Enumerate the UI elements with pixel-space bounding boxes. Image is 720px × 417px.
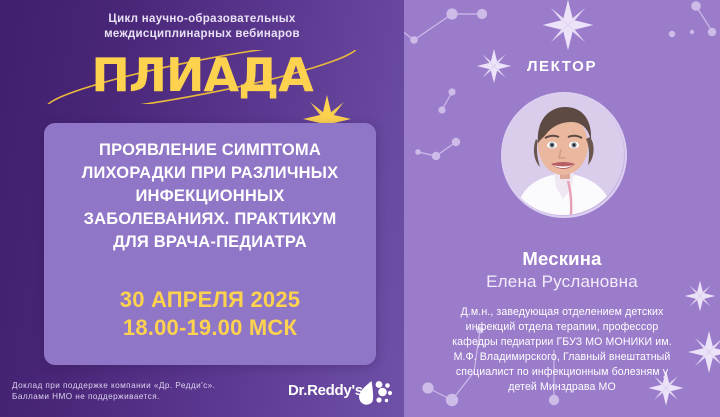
webinar-poster: Цикл научно-образовательных междисциплин… bbox=[0, 0, 720, 417]
sponsor-logo: Dr.Reddy's bbox=[288, 380, 393, 406]
webinar-title: ПРОЯВЛЕНИЕ СИМПТОМА ЛИХОРАДКИ ПРИ РАЗЛИЧ… bbox=[54, 139, 366, 254]
webinar-time: 18.00-19.00 МСК bbox=[54, 314, 366, 342]
header-subtitle: Цикл научно-образовательных междисциплин… bbox=[0, 12, 404, 42]
left-panel: Цикл научно-образовательных междисциплин… bbox=[0, 0, 404, 417]
title-card: ПРОЯВЛЕНИЕ СИМПТОМА ЛИХОРАДКИ ПРИ РАЗЛИЧ… bbox=[44, 123, 376, 365]
credentials-line-2: инфекций отдела терапии, профессор bbox=[422, 320, 702, 335]
disclaimer: Доклад при поддержке компании «Др. Редди… bbox=[12, 380, 272, 402]
credentials-line-4: М.Ф. Владимирского, Главный внештатный bbox=[422, 350, 702, 365]
right-panel: ЛЕКТОР bbox=[404, 0, 720, 417]
lecturer-first-name: Елена Руслановна bbox=[404, 272, 720, 292]
lector-label: ЛЕКТОР bbox=[404, 58, 720, 75]
credentials-line-5: специалист по инфекционным болезням у bbox=[422, 365, 702, 380]
lecturer-photo-frame bbox=[501, 92, 627, 218]
webinar-date: 30 АПРЕЛЯ 2025 bbox=[54, 286, 366, 314]
lecturer-portrait bbox=[502, 93, 624, 215]
title-line-4: ЗАБОЛЕВАНИЯХ. ПРАКТИКУМ bbox=[54, 208, 366, 231]
pliada-logo: ПЛИАДА bbox=[0, 48, 404, 106]
credentials-line-3: кафедры педиатрии ГБУЗ МО МОНИКИ им. bbox=[422, 335, 702, 350]
header-subtitle-line2: междисциплинарных вебинаров bbox=[0, 27, 404, 42]
dr-reddys-leaf-dots-icon bbox=[357, 380, 393, 406]
title-line-1: ПРОЯВЛЕНИЕ СИМПТОМА bbox=[54, 139, 366, 162]
title-line-3: ИНФЕКЦИОННЫХ bbox=[54, 185, 366, 208]
sponsor-name: Dr.Reddy's bbox=[288, 382, 363, 399]
lecturer-credentials: Д.м.н., заведующая отделением детских ин… bbox=[422, 305, 702, 395]
webinar-datetime: 30 АПРЕЛЯ 2025 18.00-19.00 МСК bbox=[54, 286, 366, 342]
lecturer-last-name: Мескина bbox=[404, 248, 720, 270]
credentials-line-6: детей Минздрава МО bbox=[422, 380, 702, 395]
header-subtitle-line1: Цикл научно-образовательных bbox=[0, 12, 404, 27]
disclaimer-line-1: Доклад при поддержке компании «Др. Редди… bbox=[12, 380, 272, 391]
title-line-5: ДЛЯ ВРАЧА-ПЕДИАТРА bbox=[54, 231, 366, 254]
disclaimer-line-2: Баллами НМО не поддерживается. bbox=[12, 391, 272, 402]
title-line-2: ЛИХОРАДКИ ПРИ РАЗЛИЧНЫХ bbox=[54, 162, 366, 185]
credentials-line-1: Д.м.н., заведующая отделением детских bbox=[422, 305, 702, 320]
